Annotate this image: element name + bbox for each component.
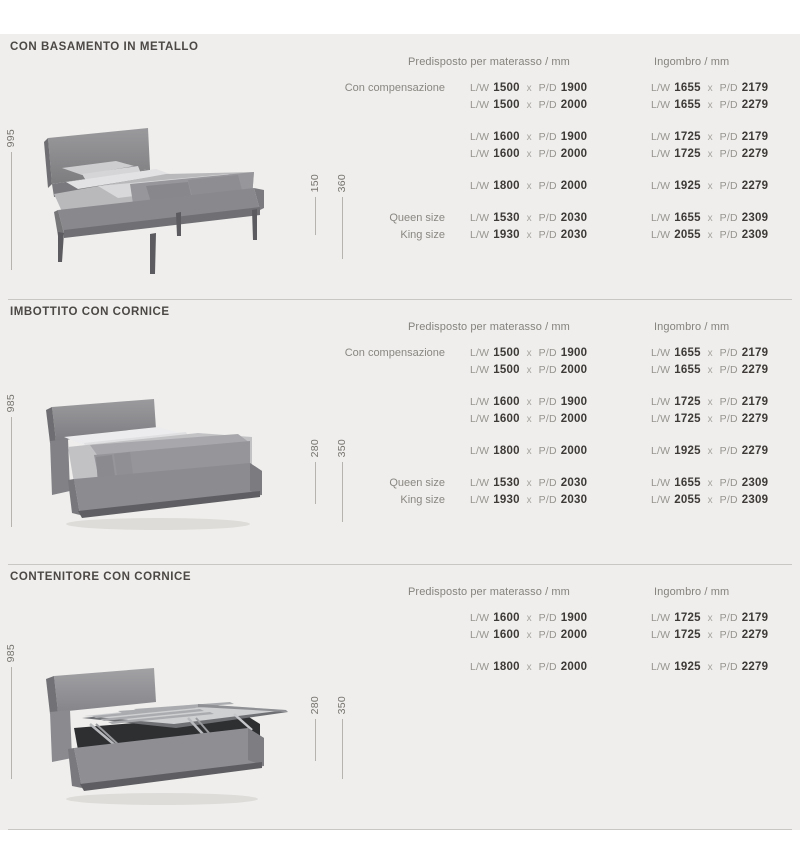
mattress-dimensions: L/W1600xP/D1900 <box>470 396 587 408</box>
lw-label: L/W <box>470 131 489 143</box>
pd-label: P/D <box>539 229 557 241</box>
spec-row: King sizeL/W1930xP/D2030L/W2055xP/D2309 <box>360 229 800 246</box>
pd-label: P/D <box>539 364 557 376</box>
lw-label: L/W <box>651 612 670 624</box>
section-title: CONTENITORE CON CORNICE <box>10 571 191 583</box>
mattress-dimensions: L/W1930xP/D2030 <box>470 494 587 506</box>
depth-value: 1900 <box>561 396 587 408</box>
spec-row: L/W1600xP/D2000L/W1725xP/D2279 <box>360 148 800 165</box>
width-value: 1600 <box>493 413 519 425</box>
spec-row: L/W1800xP/D2000L/W1925xP/D2279 <box>360 661 800 678</box>
depth-value: 2309 <box>742 212 768 224</box>
depth-value: 2000 <box>561 99 587 111</box>
overall-dimensions: L/W1655xP/D2279 <box>651 364 768 376</box>
width-value: 1925 <box>674 661 700 673</box>
lw-label: L/W <box>651 148 670 160</box>
width-value: 1600 <box>493 131 519 143</box>
pd-label: P/D <box>720 396 738 408</box>
depth-value: 2000 <box>561 364 587 376</box>
height-dimension-label: 985 <box>4 644 18 662</box>
base-dimension-280: 280 <box>308 439 322 504</box>
lw-label: L/W <box>651 396 670 408</box>
depth-value: 2309 <box>742 229 768 241</box>
lw-label: L/W <box>470 347 489 359</box>
pd-label: P/D <box>720 347 738 359</box>
base-dimension-label: 350 <box>335 439 349 457</box>
spec-row: L/W1600xP/D2000L/W1725xP/D2279 <box>360 413 800 430</box>
overall-dimensions: L/W1925xP/D2279 <box>651 180 768 192</box>
depth-value: 2279 <box>742 364 768 376</box>
spec-row: L/W1500xP/D2000L/W1655xP/D2279 <box>360 364 800 381</box>
width-value: 1655 <box>674 82 700 94</box>
times-symbol: x <box>708 630 713 641</box>
section-title: CON BASAMENTO IN METALLO <box>10 41 198 53</box>
pd-label: P/D <box>720 99 738 111</box>
pd-label: P/D <box>539 494 557 506</box>
times-symbol: x <box>708 100 713 111</box>
times-symbol: x <box>708 446 713 457</box>
section-storage-frame: CONTENITORE CON CORNICE 985 280 350 <box>0 564 800 830</box>
lw-label: L/W <box>651 477 670 489</box>
bottom-divider <box>8 829 792 830</box>
mattress-dimensions: L/W1800xP/D2000 <box>470 180 587 192</box>
depth-value: 2279 <box>742 661 768 673</box>
times-symbol: x <box>708 495 713 506</box>
times-symbol: x <box>708 397 713 408</box>
height-dimension-985: 985 <box>4 644 18 779</box>
overall-dimensions: L/W1925xP/D2279 <box>651 661 768 673</box>
height-dimension-label: 985 <box>4 394 18 412</box>
lw-label: L/W <box>651 445 670 457</box>
lw-label: L/W <box>651 99 670 111</box>
pd-label: P/D <box>720 229 738 241</box>
width-value: 1725 <box>674 148 700 160</box>
pd-label: P/D <box>539 180 557 192</box>
spec-rows: L/W1600xP/D1900L/W1725xP/D2179L/W1600xP/… <box>360 612 800 678</box>
lw-label: L/W <box>470 180 489 192</box>
width-value: 1725 <box>674 413 700 425</box>
column-header-overall: Ingombro / mm <box>654 586 729 598</box>
depth-value: 2279 <box>742 445 768 457</box>
depth-value: 2279 <box>742 99 768 111</box>
spec-row-label: Con compensazione <box>345 347 445 359</box>
depth-value: 2030 <box>561 229 587 241</box>
times-symbol: x <box>708 478 713 489</box>
pd-label: P/D <box>539 396 557 408</box>
times-symbol: x <box>708 213 713 224</box>
lw-label: L/W <box>470 99 489 111</box>
lw-label: L/W <box>651 413 670 425</box>
depth-value: 1900 <box>561 82 587 94</box>
lw-label: L/W <box>651 180 670 192</box>
times-symbol: x <box>527 132 532 143</box>
base-dimension-label: 150 <box>308 174 322 192</box>
spec-row: L/W1600xP/D1900L/W1725xP/D2179 <box>360 396 800 413</box>
height-dimension-995: 995 <box>4 129 18 270</box>
width-value: 1725 <box>674 612 700 624</box>
width-value: 1655 <box>674 364 700 376</box>
width-value: 1800 <box>493 661 519 673</box>
spec-rows: Con compensazioneL/W1500xP/D1900L/W1655x… <box>360 347 800 511</box>
times-symbol: x <box>708 662 713 673</box>
bed-metal-base-image <box>38 112 293 277</box>
spec-row: Con compensazioneL/W1500xP/D1900L/W1655x… <box>360 347 800 364</box>
spec-table: Predisposto per materasso / mm Ingombro … <box>360 564 800 830</box>
spec-table: Predisposto per materasso / mm Ingombro … <box>360 34 800 299</box>
column-header-mattress: Predisposto per materasso / mm <box>408 586 570 598</box>
bed-storage-frame-image <box>38 654 300 824</box>
lw-label: L/W <box>651 364 670 376</box>
mattress-dimensions: L/W1800xP/D2000 <box>470 661 587 673</box>
depth-value: 2000 <box>561 629 587 641</box>
overall-dimensions: L/W1655xP/D2309 <box>651 212 768 224</box>
lw-label: L/W <box>470 612 489 624</box>
overall-dimensions: L/W1725xP/D2279 <box>651 148 768 160</box>
overall-dimensions: L/W1655xP/D2279 <box>651 99 768 111</box>
width-value: 1800 <box>493 180 519 192</box>
overall-dimensions: L/W1725xP/D2179 <box>651 131 768 143</box>
depth-value: 1900 <box>561 612 587 624</box>
spec-row-label: Queen size <box>389 477 445 489</box>
width-value: 2055 <box>674 494 700 506</box>
column-header-mattress: Predisposto per materasso / mm <box>408 56 570 68</box>
spec-row: L/W1600xP/D1900L/W1725xP/D2179 <box>360 612 800 629</box>
width-value: 1500 <box>493 364 519 376</box>
depth-value: 2000 <box>561 661 587 673</box>
overall-dimensions: L/W1655xP/D2179 <box>651 347 768 359</box>
pd-label: P/D <box>539 148 557 160</box>
pd-label: P/D <box>720 494 738 506</box>
depth-value: 2000 <box>561 148 587 160</box>
spec-row: Queen sizeL/W1530xP/D2030L/W1655xP/D2309 <box>360 212 800 229</box>
height-dimension-985: 985 <box>4 394 18 527</box>
lw-label: L/W <box>470 494 489 506</box>
width-value: 1600 <box>493 148 519 160</box>
overall-dimensions: L/W1655xP/D2309 <box>651 477 768 489</box>
overall-dimensions: L/W1725xP/D2279 <box>651 413 768 425</box>
width-value: 1530 <box>493 212 519 224</box>
width-value: 1600 <box>493 612 519 624</box>
mattress-dimensions: L/W1600xP/D2000 <box>470 413 587 425</box>
width-value: 1725 <box>674 396 700 408</box>
spec-row: King sizeL/W1930xP/D2030L/W2055xP/D2309 <box>360 494 800 511</box>
times-symbol: x <box>527 662 532 673</box>
base-dimension-350: 350 <box>335 696 349 779</box>
spec-row: L/W1600xP/D2000L/W1725xP/D2279 <box>360 629 800 646</box>
lw-label: L/W <box>651 494 670 506</box>
pd-label: P/D <box>539 212 557 224</box>
spec-row-label: King size <box>400 229 445 241</box>
pd-label: P/D <box>720 180 738 192</box>
depth-value: 2030 <box>561 477 587 489</box>
overall-dimensions: L/W1725xP/D2279 <box>651 629 768 641</box>
depth-value: 1900 <box>561 131 587 143</box>
depth-value: 2309 <box>742 477 768 489</box>
mattress-dimensions: L/W1530xP/D2030 <box>470 212 587 224</box>
lw-label: L/W <box>651 82 670 94</box>
width-value: 1655 <box>674 347 700 359</box>
spec-table: Predisposto per materasso / mm Ingombro … <box>360 299 800 564</box>
pd-label: P/D <box>720 661 738 673</box>
width-value: 1655 <box>674 212 700 224</box>
width-value: 1530 <box>493 477 519 489</box>
depth-value: 2000 <box>561 413 587 425</box>
overall-dimensions: L/W2055xP/D2309 <box>651 494 768 506</box>
width-value: 1725 <box>674 629 700 641</box>
pd-label: P/D <box>720 413 738 425</box>
mattress-dimensions: L/W1600xP/D2000 <box>470 629 587 641</box>
spec-row-label: King size <box>400 494 445 506</box>
depth-value: 2179 <box>742 396 768 408</box>
section-title: IMBOTTITO CON CORNICE <box>10 306 170 318</box>
depth-value: 2179 <box>742 131 768 143</box>
times-symbol: x <box>527 630 532 641</box>
pd-label: P/D <box>539 347 557 359</box>
times-symbol: x <box>708 365 713 376</box>
width-value: 1925 <box>674 445 700 457</box>
mattress-dimensions: L/W1500xP/D2000 <box>470 99 587 111</box>
overall-dimensions: L/W2055xP/D2309 <box>651 229 768 241</box>
times-symbol: x <box>708 149 713 160</box>
depth-value: 2279 <box>742 629 768 641</box>
pd-label: P/D <box>720 629 738 641</box>
overall-dimensions: L/W1725xP/D2179 <box>651 396 768 408</box>
lw-label: L/W <box>470 148 489 160</box>
spec-row: L/W1600xP/D1900L/W1725xP/D2179 <box>360 131 800 148</box>
times-symbol: x <box>708 348 713 359</box>
pd-label: P/D <box>539 629 557 641</box>
lw-label: L/W <box>470 477 489 489</box>
spec-row-label: Con compensazione <box>345 82 445 94</box>
mattress-dimensions: L/W1500xP/D2000 <box>470 364 587 376</box>
lw-label: L/W <box>651 212 670 224</box>
base-dimension-360: 360 <box>335 174 349 259</box>
mattress-dimensions: L/W1800xP/D2000 <box>470 445 587 457</box>
lw-label: L/W <box>651 347 670 359</box>
section-metal-base: CON BASAMENTO IN METALLO 995 150 360 <box>0 34 800 299</box>
width-value: 1655 <box>674 477 700 489</box>
lw-label: L/W <box>470 445 489 457</box>
mattress-dimensions: L/W1500xP/D1900 <box>470 82 587 94</box>
times-symbol: x <box>527 478 532 489</box>
depth-value: 2030 <box>561 212 587 224</box>
depth-value: 2279 <box>742 180 768 192</box>
lw-label: L/W <box>470 82 489 94</box>
width-value: 1925 <box>674 180 700 192</box>
width-value: 1500 <box>493 82 519 94</box>
times-symbol: x <box>527 181 532 192</box>
overall-dimensions: L/W1725xP/D2179 <box>651 612 768 624</box>
lw-label: L/W <box>651 131 670 143</box>
width-value: 2055 <box>674 229 700 241</box>
width-value: 1500 <box>493 99 519 111</box>
pd-label: P/D <box>539 661 557 673</box>
mattress-dimensions: L/W1600xP/D2000 <box>470 148 587 160</box>
pd-label: P/D <box>539 413 557 425</box>
times-symbol: x <box>527 365 532 376</box>
pd-label: P/D <box>720 82 738 94</box>
times-symbol: x <box>527 213 532 224</box>
spec-sheet: CON BASAMENTO IN METALLO 995 150 360 <box>0 34 800 830</box>
times-symbol: x <box>527 446 532 457</box>
times-symbol: x <box>527 414 532 425</box>
pd-label: P/D <box>720 131 738 143</box>
base-dimension-350: 350 <box>335 439 349 522</box>
times-symbol: x <box>708 132 713 143</box>
pd-label: P/D <box>720 364 738 376</box>
base-dimension-label: 280 <box>308 439 322 457</box>
lw-label: L/W <box>470 229 489 241</box>
times-symbol: x <box>527 397 532 408</box>
overall-dimensions: L/W1655xP/D2179 <box>651 82 768 94</box>
lw-label: L/W <box>470 661 489 673</box>
pd-label: P/D <box>539 99 557 111</box>
base-dimension-label: 350 <box>335 696 349 714</box>
pd-label: P/D <box>720 445 738 457</box>
width-value: 1930 <box>493 494 519 506</box>
pd-label: P/D <box>720 212 738 224</box>
base-dimension-label: 360 <box>335 174 349 192</box>
lw-label: L/W <box>470 212 489 224</box>
times-symbol: x <box>527 149 532 160</box>
base-dimension-150: 150 <box>308 174 322 235</box>
depth-value: 2309 <box>742 494 768 506</box>
width-value: 1600 <box>493 629 519 641</box>
lw-label: L/W <box>470 629 489 641</box>
times-symbol: x <box>527 613 532 624</box>
times-symbol: x <box>708 230 713 241</box>
column-header-overall: Ingombro / mm <box>654 56 729 68</box>
times-symbol: x <box>527 230 532 241</box>
depth-value: 2279 <box>742 413 768 425</box>
depth-value: 2179 <box>742 347 768 359</box>
pd-label: P/D <box>539 131 557 143</box>
times-symbol: x <box>527 495 532 506</box>
depth-value: 2179 <box>742 82 768 94</box>
width-value: 1800 <box>493 445 519 457</box>
times-symbol: x <box>708 83 713 94</box>
depth-value: 2000 <box>561 445 587 457</box>
base-dimension-280: 280 <box>308 696 322 761</box>
lw-label: L/W <box>651 661 670 673</box>
spec-rows: Con compensazioneL/W1500xP/D1900L/W1655x… <box>360 82 800 246</box>
pd-label: P/D <box>720 612 738 624</box>
column-header-overall: Ingombro / mm <box>654 321 729 333</box>
lw-label: L/W <box>651 229 670 241</box>
section-upholstered-frame: IMBOTTITO CON CORNICE 985 280 350 <box>0 299 800 564</box>
width-value: 1600 <box>493 396 519 408</box>
pd-label: P/D <box>539 445 557 457</box>
width-value: 1500 <box>493 347 519 359</box>
width-value: 1655 <box>674 99 700 111</box>
spec-row-label: Queen size <box>389 212 445 224</box>
pd-label: P/D <box>539 612 557 624</box>
spec-row: Con compensazioneL/W1500xP/D1900L/W1655x… <box>360 82 800 99</box>
times-symbol: x <box>527 83 532 94</box>
base-dimension-label: 280 <box>308 696 322 714</box>
times-symbol: x <box>708 414 713 425</box>
mattress-dimensions: L/W1600xP/D1900 <box>470 131 587 143</box>
lw-label: L/W <box>470 364 489 376</box>
mattress-dimensions: L/W1530xP/D2030 <box>470 477 587 489</box>
times-symbol: x <box>708 613 713 624</box>
pd-label: P/D <box>720 477 738 489</box>
spec-row: L/W1500xP/D2000L/W1655xP/D2279 <box>360 99 800 116</box>
spec-row: L/W1800xP/D2000L/W1925xP/D2279 <box>360 445 800 462</box>
overall-dimensions: L/W1925xP/D2279 <box>651 445 768 457</box>
lw-label: L/W <box>651 629 670 641</box>
pd-label: P/D <box>539 477 557 489</box>
height-dimension-label: 995 <box>4 129 18 147</box>
depth-value: 2000 <box>561 180 587 192</box>
pd-label: P/D <box>539 82 557 94</box>
spec-row: L/W1800xP/D2000L/W1925xP/D2279 <box>360 180 800 197</box>
bed-upholstered-frame-image <box>38 379 293 544</box>
depth-value: 2279 <box>742 148 768 160</box>
column-header-mattress: Predisposto per materasso / mm <box>408 321 570 333</box>
times-symbol: x <box>527 100 532 111</box>
mattress-dimensions: L/W1930xP/D2030 <box>470 229 587 241</box>
times-symbol: x <box>708 181 713 192</box>
width-value: 1725 <box>674 131 700 143</box>
mattress-dimensions: L/W1500xP/D1900 <box>470 347 587 359</box>
depth-value: 1900 <box>561 347 587 359</box>
times-symbol: x <box>527 348 532 359</box>
depth-value: 2179 <box>742 612 768 624</box>
width-value: 1930 <box>493 229 519 241</box>
lw-label: L/W <box>470 413 489 425</box>
mattress-dimensions: L/W1600xP/D1900 <box>470 612 587 624</box>
depth-value: 2030 <box>561 494 587 506</box>
spec-row: Queen sizeL/W1530xP/D2030L/W1655xP/D2309 <box>360 477 800 494</box>
lw-label: L/W <box>470 396 489 408</box>
pd-label: P/D <box>720 148 738 160</box>
